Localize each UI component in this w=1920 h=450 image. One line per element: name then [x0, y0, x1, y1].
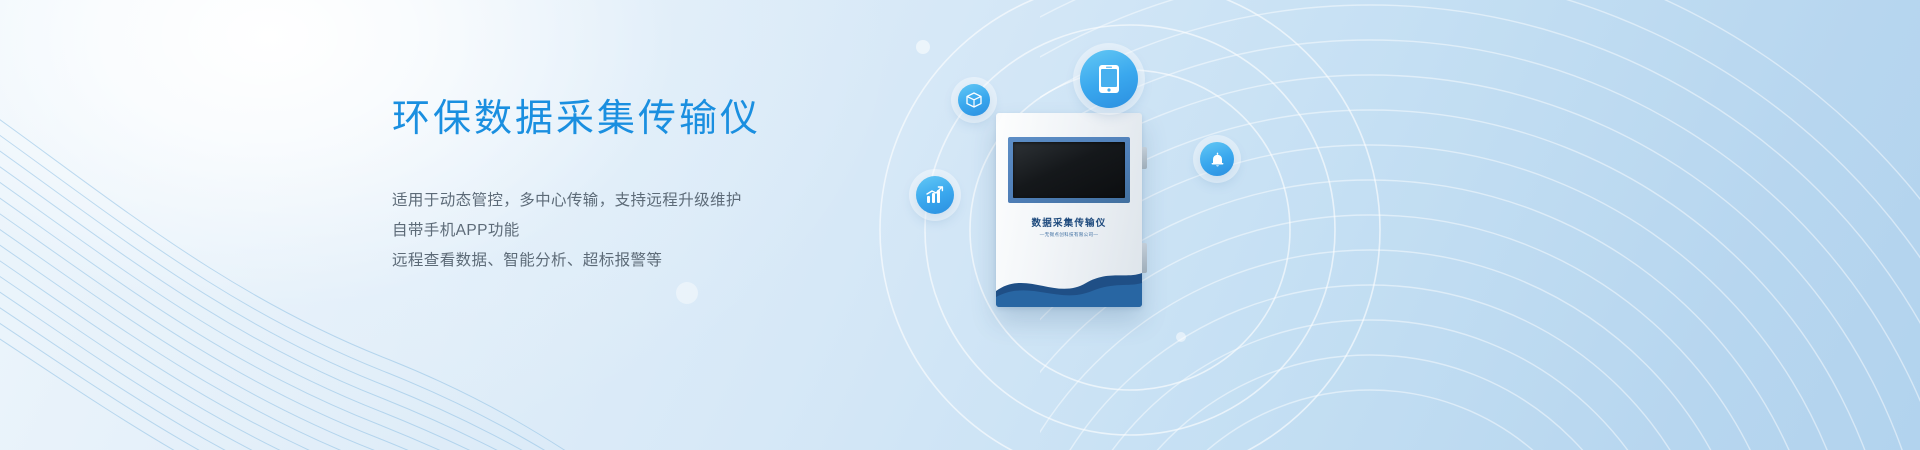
product-device-image: 数据采集传输仪 —无锡点创科技有限公司—: [996, 113, 1142, 307]
product-hero-banner: 环保数据采集传输仪 适用于动态管控，多中心传输，支持远程升级维护 自带手机APP…: [0, 0, 1920, 450]
device-company-label: —无锡点创科技有限公司—: [1002, 231, 1136, 237]
device-side-port: [1142, 243, 1147, 273]
package-box-icon: [966, 92, 982, 108]
bubble-bar-chart[interactable]: [916, 176, 954, 214]
subtitle-line-1: 适用于动态管控，多中心传输，支持远程升级维护: [392, 186, 952, 216]
bubble-package-box[interactable]: [958, 84, 990, 116]
alarm-bell-icon: [1209, 151, 1226, 168]
subtitle-line-3: 远程查看数据、智能分析、超标报警等: [392, 246, 952, 276]
bar-chart-icon: [925, 186, 945, 204]
hero-subtitle: 适用于动态管控，多中心传输，支持远程升级维护 自带手机APP功能 远程查看数据、…: [392, 186, 952, 276]
bokeh-dot: [676, 282, 698, 304]
bokeh-dot: [916, 40, 930, 54]
bokeh-dot: [1176, 332, 1186, 342]
bubble-alarm-bell[interactable]: [1200, 142, 1234, 176]
device-wave-graphic: [996, 261, 1142, 307]
bubble-mobile-phone[interactable]: [1080, 50, 1138, 108]
mobile-phone-icon: [1098, 64, 1120, 94]
device-screen-bezel: [1008, 137, 1130, 203]
arc-lines-decoration: [1040, 0, 1920, 450]
subtitle-line-2: 自带手机APP功能: [392, 216, 952, 246]
hero-copy: 环保数据采集传输仪 适用于动态管控，多中心传输，支持远程升级维护 自带手机APP…: [392, 96, 952, 276]
page-title: 环保数据采集传输仪: [392, 96, 952, 142]
device-side-port: [1142, 147, 1147, 169]
device-brand-label: 数据采集传输仪: [996, 215, 1142, 229]
device-screen: [1013, 142, 1125, 198]
